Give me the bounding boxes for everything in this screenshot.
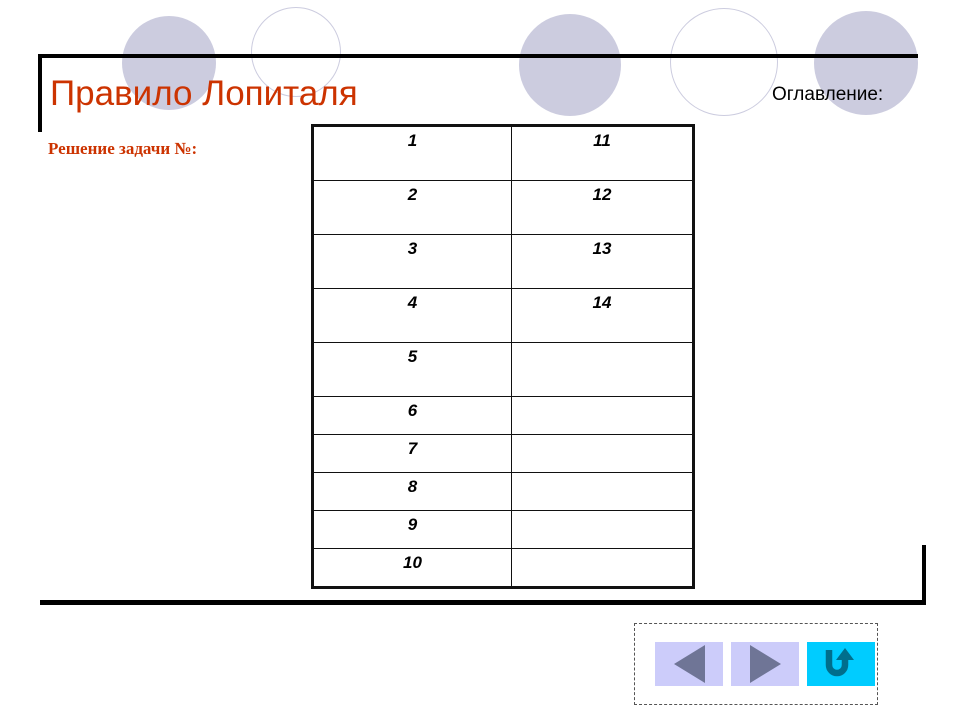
toc-link-cell-left[interactable]: 5 [313, 343, 512, 397]
decorative-circle-4 [670, 8, 778, 116]
toc-link-cell-right [512, 397, 694, 435]
presentation-slide: Правило Лопиталя Решение задачи №: Оглав… [0, 0, 960, 720]
table-row: 313 [313, 235, 694, 289]
toc-link-cell-left[interactable]: 3 [313, 235, 512, 289]
table-row: 212 [313, 181, 694, 235]
toc-link-cell-left[interactable]: 1 [313, 126, 512, 181]
frame-right-rule [922, 545, 926, 605]
forward-button[interactable] [731, 642, 799, 686]
table-row: 9 [313, 511, 694, 549]
triangle-left-icon [674, 645, 705, 683]
table-row: 6 [313, 397, 694, 435]
return-button[interactable] [807, 642, 875, 686]
toc-link-cell-left[interactable]: 8 [313, 473, 512, 511]
toc-link-cell-right [512, 473, 694, 511]
decorative-circle-3 [519, 14, 621, 116]
toc-link-cell-right [512, 435, 694, 473]
triangle-right-icon [750, 645, 781, 683]
toc-link-cell-left[interactable]: 7 [313, 435, 512, 473]
table-row: 7 [313, 435, 694, 473]
table-row: 414 [313, 289, 694, 343]
toc-link-cell-right[interactable]: 14 [512, 289, 694, 343]
toc-link-cell-right[interactable]: 13 [512, 235, 694, 289]
table-row: 111 [313, 126, 694, 181]
frame-top-rule [38, 54, 918, 58]
navigation-button-group [634, 623, 878, 705]
table-row: 8 [313, 473, 694, 511]
back-button[interactable] [655, 642, 723, 686]
table-of-contents-label: Оглавление: [772, 82, 883, 108]
slide-title: Правило Лопиталя [50, 72, 358, 116]
toc-link-cell-left[interactable]: 6 [313, 397, 512, 435]
toc-link-cell-left[interactable]: 4 [313, 289, 512, 343]
toc-link-cell-right[interactable]: 11 [512, 126, 694, 181]
u-turn-arrow-icon [820, 646, 862, 682]
toc-link-cell-right [512, 549, 694, 588]
table-row: 5 [313, 343, 694, 397]
task-number-label: Решение задачи №: [48, 138, 197, 160]
toc-link-cell-left[interactable]: 9 [313, 511, 512, 549]
table-row: 10 [313, 549, 694, 588]
frame-left-rule [38, 54, 42, 132]
toc-link-cell-left[interactable]: 10 [313, 549, 512, 588]
table-of-contents-table: 1112123134145678910 [311, 124, 695, 589]
toc-link-cell-left[interactable]: 2 [313, 181, 512, 235]
toc-link-cell-right[interactable]: 12 [512, 181, 694, 235]
toc-link-cell-right [512, 343, 694, 397]
toc-link-cell-right [512, 511, 694, 549]
frame-bottom-rule [40, 600, 926, 605]
